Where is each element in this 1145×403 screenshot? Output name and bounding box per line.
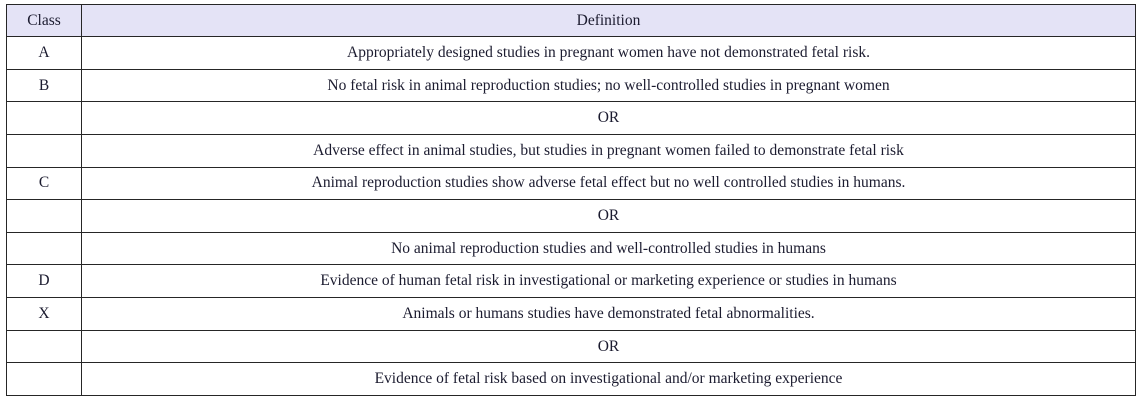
table-row: DEvidence of human fetal risk in investi… bbox=[7, 265, 1136, 298]
table-row: BNo fetal risk in animal reproduction st… bbox=[7, 69, 1136, 102]
column-header-class: Class bbox=[7, 5, 82, 37]
cell-class: C bbox=[7, 167, 82, 200]
cell-definition: No animal reproduction studies and well-… bbox=[82, 232, 1136, 265]
table-header: Class Definition bbox=[7, 5, 1136, 37]
table-row: OR bbox=[7, 102, 1136, 135]
cell-definition: OR bbox=[82, 330, 1136, 363]
cell-definition: Animal reproduction studies show adverse… bbox=[82, 167, 1136, 200]
pregnancy-class-table: Class Definition AAppropriately designed… bbox=[6, 4, 1136, 396]
cell-definition: Evidence of fetal risk based on investig… bbox=[82, 363, 1136, 396]
table-row: Evidence of fetal risk based on investig… bbox=[7, 363, 1136, 396]
cell-definition: Adverse effect in animal studies, but st… bbox=[82, 134, 1136, 167]
table-header-row: Class Definition bbox=[7, 5, 1136, 37]
cell-class: B bbox=[7, 69, 82, 102]
cell-definition: OR bbox=[82, 102, 1136, 135]
cell-class: A bbox=[7, 37, 82, 70]
table-row: CAnimal reproduction studies show advers… bbox=[7, 167, 1136, 200]
cell-class bbox=[7, 363, 82, 396]
cell-class bbox=[7, 330, 82, 363]
cell-class bbox=[7, 200, 82, 233]
cell-definition: No fetal risk in animal reproduction stu… bbox=[82, 69, 1136, 102]
cell-definition: Animals or humans studies have demonstra… bbox=[82, 298, 1136, 331]
table-row: AAppropriately designed studies in pregn… bbox=[7, 37, 1136, 70]
table-row: Adverse effect in animal studies, but st… bbox=[7, 134, 1136, 167]
cell-definition: Appropriately designed studies in pregna… bbox=[82, 37, 1136, 70]
column-header-definition: Definition bbox=[82, 5, 1136, 37]
table-body: AAppropriately designed studies in pregn… bbox=[7, 37, 1136, 396]
table-row: OR bbox=[7, 200, 1136, 233]
cell-class bbox=[7, 102, 82, 135]
pregnancy-class-table-container: Class Definition AAppropriately designed… bbox=[6, 4, 1136, 396]
cell-class: D bbox=[7, 265, 82, 298]
cell-definition: Evidence of human fetal risk in investig… bbox=[82, 265, 1136, 298]
cell-definition: OR bbox=[82, 200, 1136, 233]
cell-class: X bbox=[7, 298, 82, 331]
cell-class bbox=[7, 232, 82, 265]
table-row: No animal reproduction studies and well-… bbox=[7, 232, 1136, 265]
table-row: XAnimals or humans studies have demonstr… bbox=[7, 298, 1136, 331]
table-row: OR bbox=[7, 330, 1136, 363]
cell-class bbox=[7, 134, 82, 167]
